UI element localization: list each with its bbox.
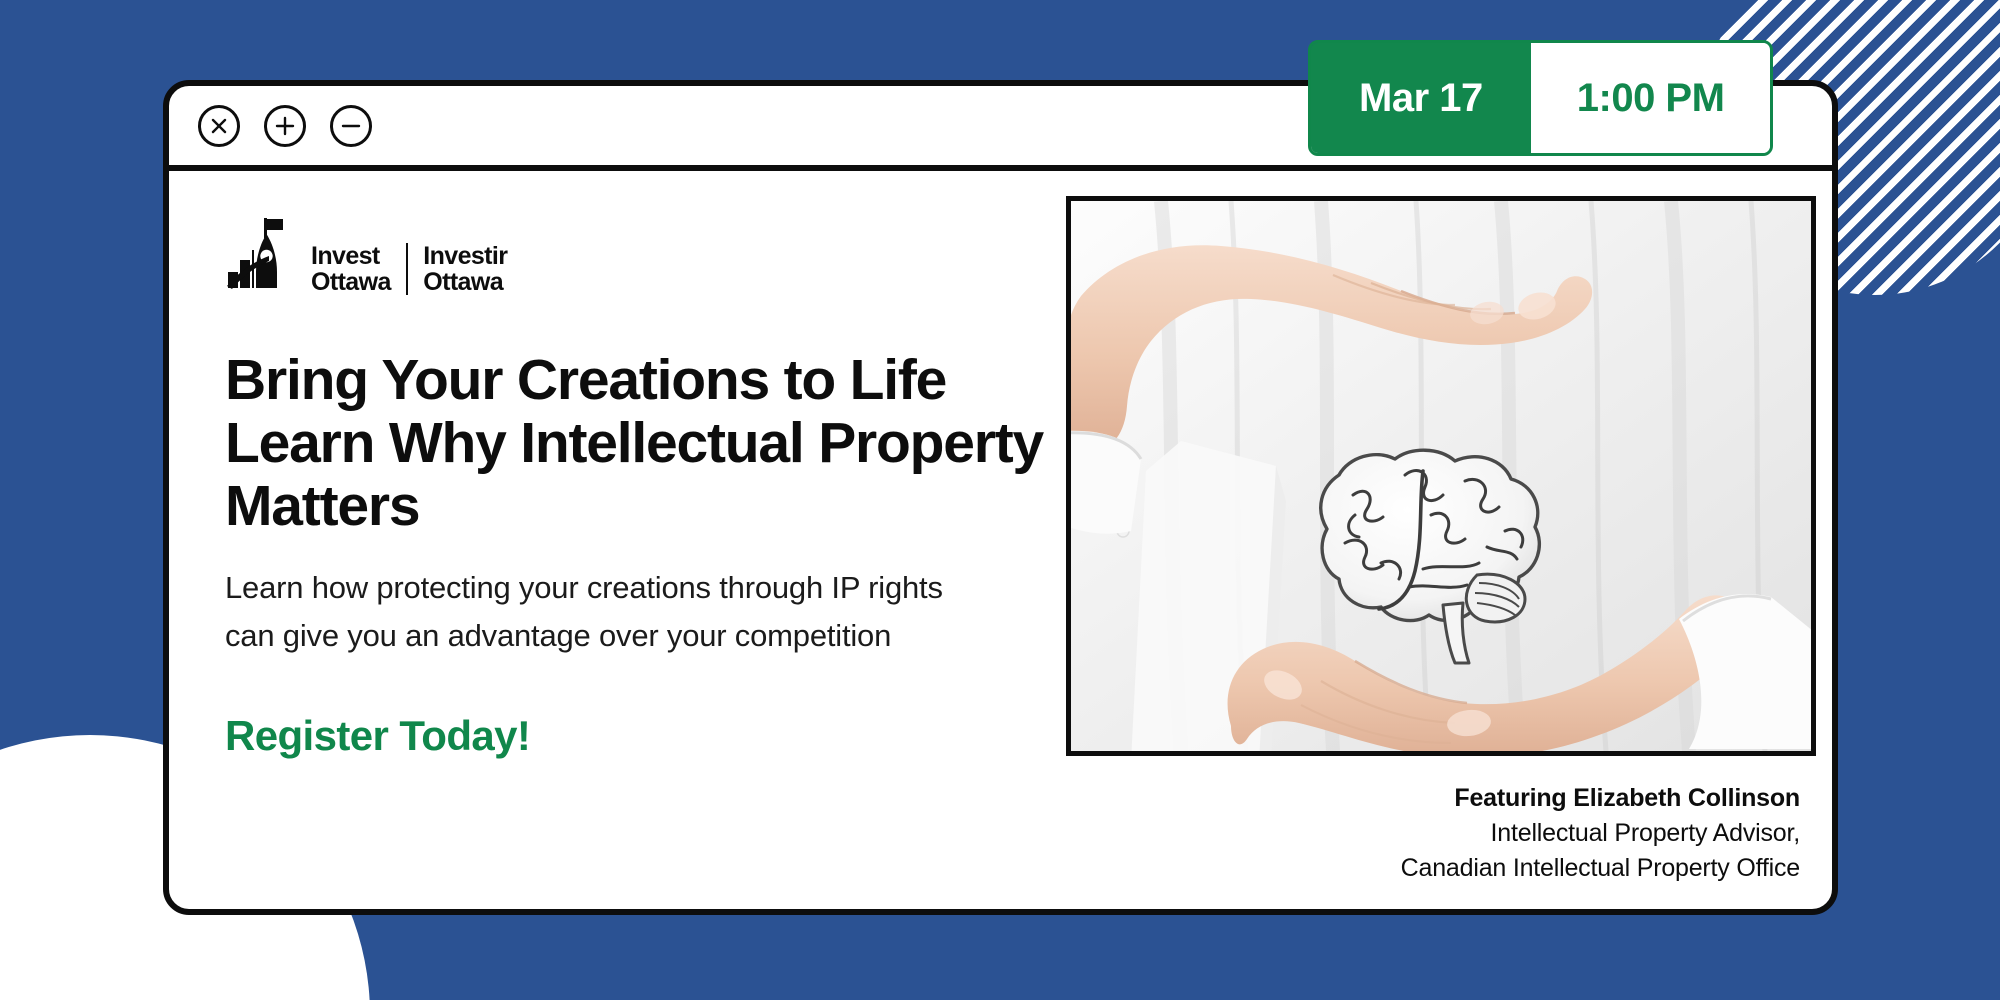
logo-wordmark: Invest Ottawa Investir Ottawa [311,243,507,295]
hands-protecting-brain-image [1066,196,1816,756]
left-content-column: Invest Ottawa Investir Ottawa Bring Your… [169,171,1066,909]
invest-ottawa-peace-tower-icon [225,216,297,295]
invest-ottawa-logo: Invest Ottawa Investir Ottawa [225,219,1066,295]
close-icon[interactable] [198,105,240,147]
logo-text-en: Invest Ottawa [311,243,391,295]
event-datetime-badge: Mar 17 1:00 PM [1308,40,1773,156]
page-subtitle: Learn how protecting your creations thro… [225,564,985,660]
browser-window-card: Invest Ottawa Investir Ottawa Bring Your… [163,80,1838,915]
event-time: 1:00 PM [1531,43,1771,153]
speaker-organization: Canadian Intellectual Property Office [1066,851,1800,886]
window-content: Invest Ottawa Investir Ottawa Bring Your… [169,171,1832,909]
page-title: Bring Your Creations to Life Learn Why I… [225,349,1065,538]
speaker-name: Featuring Elizabeth Collinson [1066,781,1800,816]
promo-banner: Invest Ottawa Investir Ottawa Bring Your… [0,0,2000,1000]
minus-icon[interactable] [330,105,372,147]
event-date: Mar 17 [1311,43,1531,153]
plus-icon[interactable] [264,105,306,147]
register-cta[interactable]: Register Today! [225,712,1066,760]
speaker-title: Intellectual Property Advisor, [1066,816,1800,851]
logo-text-fr: Investir Ottawa [423,243,507,295]
right-content-column: Featuring Elizabeth Collinson Intellectu… [1066,171,1832,909]
speaker-attribution: Featuring Elizabeth Collinson Intellectu… [1066,781,1800,886]
logo-divider [406,243,409,295]
